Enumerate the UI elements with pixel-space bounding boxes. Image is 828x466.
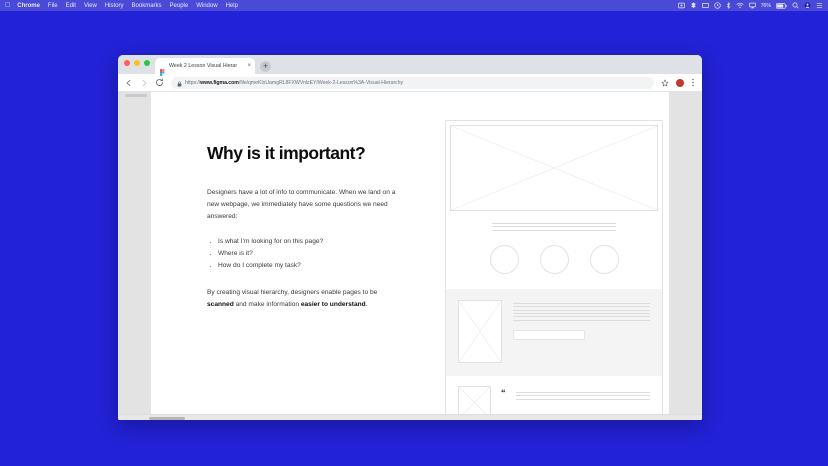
- text-line: [513, 306, 650, 307]
- reload-icon[interactable]: [155, 78, 164, 87]
- three-dot-menu-icon[interactable]: [691, 78, 695, 87]
- menu-item-history[interactable]: History: [105, 3, 124, 9]
- wifi-icon[interactable]: [736, 2, 744, 9]
- chrome-toolbar: https://www.figma.com/file/qmeKIsUamgRL8…: [118, 74, 702, 92]
- menu-item-people[interactable]: People: [170, 3, 189, 9]
- text-line: [513, 320, 650, 321]
- menu-item-help[interactable]: Help: [226, 3, 238, 9]
- wireframe-quote-text-lines: [516, 386, 651, 400]
- wireframe-circle: [540, 245, 569, 274]
- browser-tab-figma[interactable]: Week 2 Lesson Visual Hierar ×: [155, 58, 255, 74]
- menu-item-chrome[interactable]: Chrome: [17, 3, 40, 9]
- text-line: [516, 392, 651, 393]
- battery-percent-label: 76%: [761, 3, 771, 9]
- image-placeholder-x-icon: [451, 126, 657, 210]
- menu-item-file[interactable]: File: [48, 3, 58, 9]
- figma-slide-canvas[interactable]: Why is it important? Designers have a lo…: [151, 92, 669, 420]
- figma-left-gutter: [118, 92, 151, 420]
- text-line: [516, 395, 651, 396]
- address-bar-url: https://www.figma.com/file/qmeKIsUamgRL8…: [185, 80, 403, 86]
- display-icon[interactable]: [702, 2, 709, 9]
- window-traffic-lights: [124, 60, 150, 66]
- list-item: Is what I’m looking for on this page?: [207, 236, 397, 248]
- wireframe-circle: [490, 245, 519, 274]
- desktop-background: Week 2 Lesson Visual Hierar × + https://…: [0, 11, 828, 466]
- dropbox-icon[interactable]: [690, 2, 697, 9]
- chrome-tab-strip: Week 2 Lesson Visual Hierar × +: [118, 55, 702, 74]
- text-line: [516, 399, 651, 400]
- back-arrow-icon[interactable]: [125, 79, 133, 87]
- chrome-browser-window: Week 2 Lesson Visual Hierar × + https://…: [118, 55, 702, 420]
- wireframe-image-box: [458, 300, 502, 363]
- lock-icon: [177, 77, 182, 89]
- screen-record-icon[interactable]: [678, 2, 685, 9]
- page-title: Why is it important?: [207, 144, 397, 163]
- text-line: [492, 223, 616, 224]
- user-account-icon[interactable]: [804, 2, 811, 9]
- menu-item-window[interactable]: Window: [196, 3, 217, 9]
- control-center-icon[interactable]: [816, 2, 823, 9]
- new-tab-button[interactable]: +: [260, 61, 271, 72]
- airplay-icon[interactable]: [749, 2, 756, 9]
- menu-item-bookmarks[interactable]: Bookmarks: [132, 3, 162, 9]
- wireframe-hero-text-lines: [492, 223, 616, 231]
- close-window-button[interactable]: [124, 60, 130, 66]
- wireframe-hero-placeholder: [450, 125, 658, 211]
- wireframe-feature-section: [446, 289, 662, 376]
- browser-tab-title: Week 2 Lesson Visual Hierar: [169, 63, 244, 69]
- menu-item-view[interactable]: View: [84, 3, 97, 9]
- wireframe-circle: [590, 245, 619, 274]
- minimize-window-button[interactable]: [134, 60, 140, 66]
- text-line: [513, 310, 650, 311]
- wireframe-mockup: “: [445, 120, 663, 420]
- forward-arrow-icon[interactable]: [140, 79, 148, 87]
- horizontal-scrollbar-thumb[interactable]: [149, 417, 185, 420]
- wireframe-circle-row: [446, 245, 662, 274]
- slide-text-column: Why is it important? Designers have a lo…: [207, 144, 397, 324]
- figma-right-gutter: [669, 92, 702, 420]
- text-line: [513, 303, 650, 304]
- slide-paragraph-conclusion: By creating visual hierarchy, designers …: [207, 287, 397, 311]
- wireframe-cta-button[interactable]: [513, 330, 585, 340]
- maximize-window-button[interactable]: [144, 60, 150, 66]
- address-bar[interactable]: https://www.figma.com/file/qmeKIsUamgRL8…: [171, 77, 654, 89]
- text-line: [513, 313, 650, 314]
- list-item: Where is it?: [207, 248, 397, 260]
- spotlight-search-icon[interactable]: [792, 2, 799, 9]
- horizontal-scrollbar[interactable]: [118, 414, 702, 420]
- wireframe-feature-content: [513, 300, 650, 340]
- text-line: [492, 230, 616, 231]
- text-line: [492, 226, 616, 227]
- slide-question-list: Is what I’m looking for on this page? Wh…: [207, 236, 397, 272]
- text-line: [513, 316, 650, 317]
- list-item: How do I complete my task?: [207, 260, 397, 272]
- image-placeholder-x-icon: [459, 301, 501, 362]
- apple-icon[interactable]: : [5, 2, 10, 9]
- bookmark-star-icon[interactable]: [661, 79, 669, 87]
- close-tab-icon[interactable]: ×: [247, 63, 251, 69]
- profile-avatar[interactable]: [676, 79, 684, 87]
- quote-mark-icon: “: [501, 389, 506, 398]
- menu-item-edit[interactable]: Edit: [66, 3, 76, 9]
- slide-paragraph-intro: Designers have a lot of info to communic…: [207, 187, 397, 223]
- battery-icon[interactable]: [776, 3, 787, 9]
- clock-icon[interactable]: [714, 2, 721, 9]
- bluetooth-icon[interactable]: [726, 2, 731, 9]
- figma-layer-chip: [125, 94, 147, 97]
- macos-menu-bar:  Chrome File Edit View History Bookmark…: [0, 0, 828, 11]
- wireframe-feature-text-lines: [513, 303, 650, 321]
- figma-favicon: [159, 63, 166, 70]
- browser-content-area: Why is it important? Designers have a lo…: [118, 92, 702, 420]
